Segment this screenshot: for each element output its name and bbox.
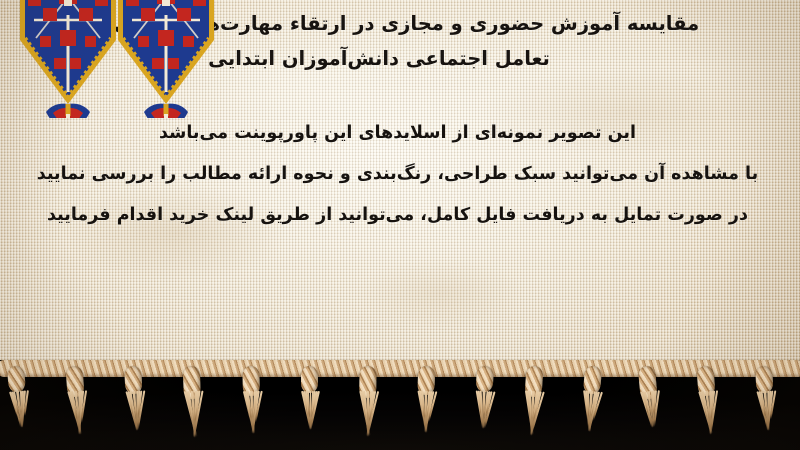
- body-line-1: این تصویر نمونه‌ای از اسلایدهای این پاور…: [5, 113, 790, 154]
- fringe-strands: [576, 390, 604, 440]
- fringe-tassel: [120, 365, 150, 440]
- fringe-strands: [413, 391, 439, 440]
- body-line-2: با مشاهده آن می‌توانید سبک طراحی، رنگ‌بن…: [5, 154, 790, 195]
- fringe-tassel: [469, 365, 499, 440]
- fringe-strands: [470, 390, 496, 439]
- fringe-strands: [239, 391, 264, 439]
- fringe-tassel: [179, 366, 208, 441]
- fringe-strands: [123, 390, 149, 439]
- fringe-knot: [7, 365, 26, 392]
- fringe-tassel: [518, 365, 549, 441]
- fringe-tassel: [62, 365, 93, 441]
- fringe-strands: [64, 390, 91, 440]
- fringe-strands: [355, 391, 380, 439]
- fringe-strands: [298, 391, 322, 439]
- fringe-knot: [301, 366, 318, 393]
- kilim-medallion-icon: [14, 0, 122, 118]
- carpet-fringe: [0, 360, 800, 450]
- fringe-strands: [181, 391, 207, 440]
- fringe-strands: [637, 390, 665, 440]
- fringe-tassel: [238, 366, 265, 440]
- fringe-knot: [755, 366, 773, 394]
- fringe-tassel: [412, 366, 441, 441]
- fringe-knot: [476, 366, 494, 393]
- presentation-slide: مقایسه آموزش حضوری و مجازی در ارتقاء مها…: [0, 0, 800, 450]
- slide-body: این تصویر نمونه‌ای از اسلایدهای این پاور…: [5, 113, 790, 236]
- fringe-tassel: [692, 365, 723, 441]
- fringe-tassel: [297, 366, 323, 440]
- kilim-medallion-icon: [112, 0, 220, 118]
- fringe-strands: [519, 390, 546, 440]
- fringe-strands: [6, 390, 34, 440]
- fringe-strands: [695, 390, 722, 440]
- fringe-tassel: [751, 365, 781, 440]
- body-line-3: در صورت تمایل به دریافت فایل کامل، می‌تو…: [5, 195, 790, 236]
- fringe-strands: [753, 390, 779, 439]
- fringe-tassel: [354, 366, 381, 440]
